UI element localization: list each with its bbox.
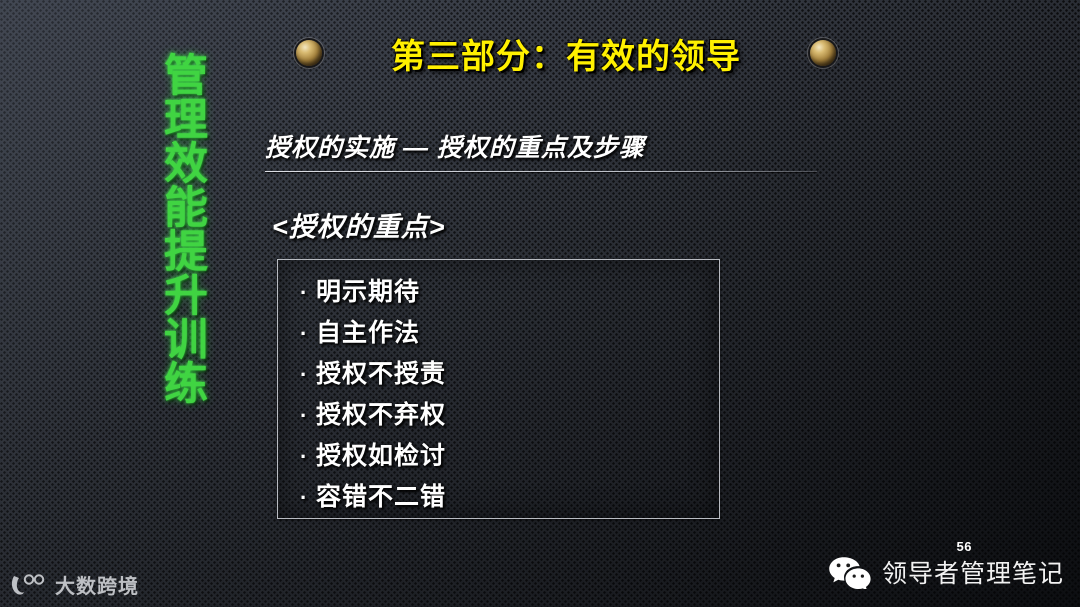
bullet-dot-icon: · (300, 487, 316, 509)
dashu-logo-icon (10, 572, 48, 598)
slide-canvas: 管理效能提升训练 第三部分：有效的领导 授权的实施 — 授权的重点及步骤 <授权… (0, 0, 1080, 607)
brand-name: 领导者管理笔记 (882, 554, 1064, 590)
list-item-label: 容错不二错 (316, 477, 446, 513)
bullet-dot-icon: · (300, 446, 316, 468)
key-points-box: · 明示期待 · 自主作法 · 授权不授责 · 授权不弃权 · 授权如检讨 · … (277, 259, 720, 519)
list-item: · 明示期待 (300, 272, 719, 313)
list-item-label: 明示期待 (316, 272, 420, 308)
bullet-dot-icon: · (300, 364, 316, 386)
list-item: · 授权不授责 (300, 354, 719, 395)
subtitle-block: 授权的实施 — 授权的重点及步骤 (265, 128, 817, 172)
bullet-dot-icon: · (300, 323, 316, 345)
bullet-dot-icon: · (300, 282, 316, 304)
brand-footer: 领导者管理笔记 (828, 554, 1064, 590)
list-item-label: 自主作法 (316, 313, 420, 349)
course-vertical-title: 管理效能提升训练 (140, 18, 206, 438)
list-item: · 授权不弃权 (300, 395, 719, 436)
bullet-dot-icon: · (300, 405, 316, 427)
list-item: · 授权如检讨 (300, 436, 719, 477)
wechat-icon (828, 555, 874, 589)
list-item-label: 授权不授责 (316, 354, 446, 390)
watermark: 大数跨境 (10, 570, 139, 599)
subtitle: 授权的实施 — 授权的重点及步骤 (265, 128, 817, 171)
page-number: 56 (957, 539, 972, 554)
list-item: · 自主作法 (300, 313, 719, 354)
part-title: 第三部分：有效的领导 (391, 29, 741, 78)
list-item-label: 授权不弃权 (316, 395, 446, 431)
part-title-row: 第三部分：有效的领导 (296, 28, 836, 78)
watermark-text: 大数跨境 (55, 570, 139, 599)
subtitle-divider (265, 171, 817, 172)
section-heading: <授权的重点> (272, 205, 446, 244)
bronze-bead-right-icon (810, 40, 836, 66)
bronze-bead-left-icon (296, 40, 322, 66)
list-item: · 容错不二错 (300, 477, 719, 518)
list-item-label: 授权如检讨 (316, 436, 446, 472)
key-points-list: · 明示期待 · 自主作法 · 授权不授责 · 授权不弃权 · 授权如检讨 · … (300, 272, 719, 518)
